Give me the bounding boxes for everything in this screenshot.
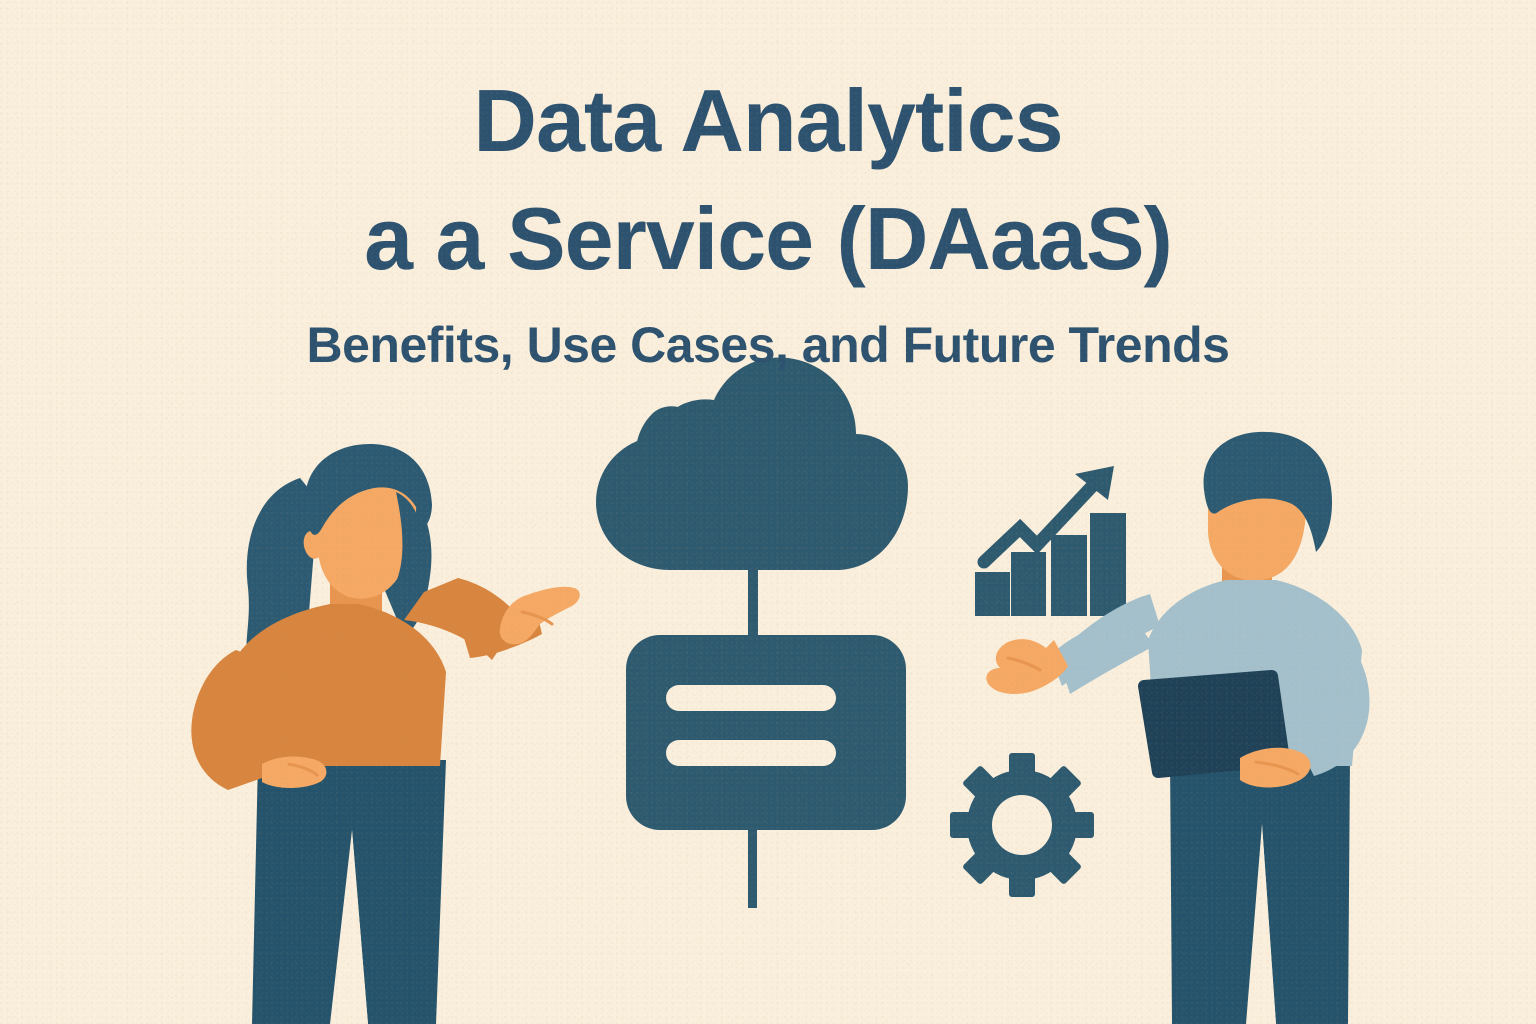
man-figure: [986, 432, 1369, 1024]
chart-bar-2: [1011, 552, 1046, 616]
cloud-icon: [596, 357, 908, 570]
database-connector-line: [748, 828, 757, 908]
chart-bar-3: [1051, 535, 1087, 616]
gear-icon: [950, 753, 1094, 897]
woman-hip-hand: [262, 757, 326, 788]
chart-bar-1: [975, 572, 1010, 616]
database-stripe-1: [666, 685, 836, 711]
chart-bar-4: [1090, 513, 1126, 616]
poster-canvas: Data Analytics a a Service (DAaaS) Benef…: [0, 0, 1536, 1024]
woman-pointing-hand: [500, 587, 580, 645]
growth-chart-icon: [975, 466, 1126, 616]
page-title: Data Analytics a a Service (DAaaS) Benef…: [0, 62, 1536, 376]
database-icon: [626, 635, 906, 830]
page-subtitle: Benefits, Use Cases, and Future Trends: [0, 314, 1536, 376]
man-open-palm-hand: [986, 639, 1068, 694]
man-pants: [1170, 758, 1350, 1024]
woman-figure: [191, 444, 579, 1024]
cloud-data-icon-group: [596, 357, 908, 908]
title-line-1: Data Analytics: [0, 62, 1536, 180]
database-stripe-2: [666, 740, 836, 766]
title-line-2: a a Service (DAaaS): [0, 180, 1536, 298]
woman-pants: [252, 760, 446, 1024]
